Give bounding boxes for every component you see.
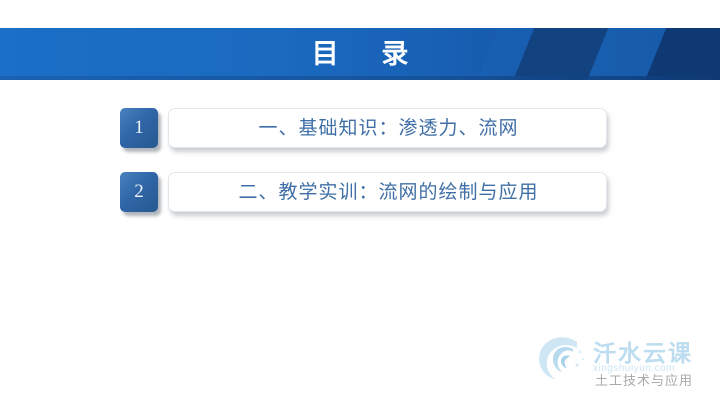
agenda-list: 1 一、基础知识：渗透力、流网 2 二、教学实训：流网的绘制与应用	[120, 108, 610, 236]
watermark-subtitle: 土工技术与应用	[595, 370, 693, 389]
agenda-item-box[interactable]: 二、教学实训：流网的绘制与应用	[168, 172, 607, 212]
agenda-item-label: 二、教学实训：流网的绘制与应用	[169, 173, 608, 213]
wave-logo-icon	[533, 332, 589, 384]
agenda-item-box[interactable]: 一、基础知识：渗透力、流网	[168, 108, 607, 148]
slide-title-banner: 目 录	[0, 28, 720, 80]
agenda-item-2[interactable]: 2 二、教学实训：流网的绘制与应用	[120, 172, 610, 214]
agenda-number-badge: 1	[120, 108, 158, 148]
agenda-item-label: 一、基础知识：渗透力、流网	[169, 109, 608, 149]
watermark-logo: 汘水云课 xingshuiyun.com 土工技术与应用	[533, 330, 713, 398]
agenda-item-1[interactable]: 1 一、基础知识：渗透力、流网	[120, 108, 610, 150]
agenda-number-badge: 2	[120, 172, 158, 212]
page-title: 目 录	[0, 28, 720, 80]
